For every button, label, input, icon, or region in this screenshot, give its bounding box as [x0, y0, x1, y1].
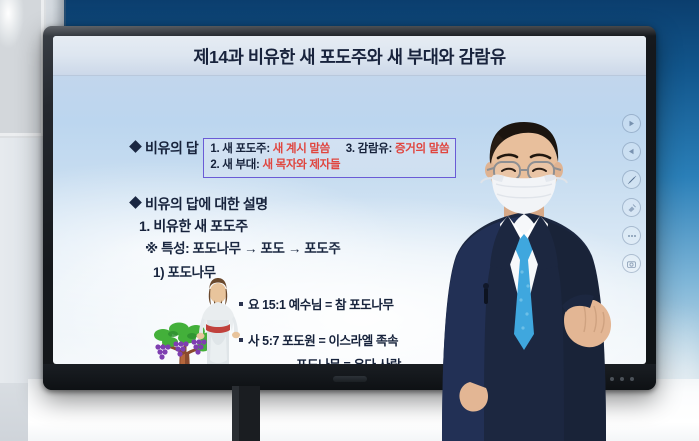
verse-text-3: 포도나무 = 유다 사람 [296, 354, 401, 364]
ir-sensor [333, 376, 367, 382]
answer-box: 1. 새 포도주: 새 계시 말씀 3. 감람유: 증거의 말씀 2. 새 부대… [203, 138, 456, 178]
explain-item-1: 1. 비유한 새 포도주 [139, 216, 248, 236]
eraser-icon[interactable] [622, 198, 641, 217]
stone-texture-panel [0, 0, 46, 138]
bezel-gloss [43, 26, 656, 36]
diamond-bullet-icon-2 [129, 196, 142, 209]
verse-text-1: 요 15:1 예수님 = 참 포도나무 [248, 294, 394, 313]
verse-item-1: 요 15:1 예수님 = 참 포도나무 [239, 294, 394, 313]
verse-item-2: 사 5:7 포도원 = 이스라엘 족속 [239, 330, 398, 349]
pen-icon[interactable] [622, 170, 641, 189]
answer-value-2: 새 목자와 제자들 [262, 159, 340, 171]
trait-line: ※ 특성: 포도나무 → 포도 → 포도주 [145, 237, 340, 257]
verse-text-2: 사 5:7 포도원 = 이스라엘 족속 [248, 330, 398, 349]
diamond-bullet-icon [129, 140, 142, 153]
bezel-button[interactable] [620, 377, 624, 381]
verse-item-3: 포도나무 = 유다 사람 [296, 354, 401, 364]
slide-title: 제14과 비유한 새 포도주와 새 부대와 감람유 [53, 44, 646, 69]
play-icon[interactable] [622, 114, 641, 133]
answer-label-3: 3. 감람유: [346, 143, 392, 155]
answer-heading: 비유의 답 [145, 138, 198, 158]
answer-line-1: 1. 새 포도주: 새 계시 말씀 3. 감람유: 증거의 말씀 [210, 141, 449, 157]
explain-heading: 비유의 답에 대한 설명 [145, 194, 268, 214]
bezel-button[interactable] [630, 377, 634, 381]
screen-toolbar[interactable] [622, 114, 641, 273]
display-stand [228, 386, 264, 441]
answer-value-1: 새 계시 말씀 [273, 143, 330, 155]
jesus-figure-illustration [193, 276, 243, 364]
answer-label-1: 1. 새 포도주: [210, 143, 269, 155]
answer-line-2: 2. 새 부대: 새 목자와 제자들 [210, 157, 449, 173]
capture-icon[interactable] [622, 254, 641, 273]
answer-section: 비유의 답 1. 새 포도주: 새 계시 말씀 3. 감람유: 증거의 말씀 2… [131, 138, 456, 178]
presenter [434, 120, 614, 441]
screenshot-root: 제14과 비유한 새 포도주와 새 부대와 감람유 비유의 답 1. 새 포도주… [0, 0, 699, 441]
explain-section: 비유의 답에 대한 설명 [131, 194, 268, 214]
back-icon[interactable] [622, 142, 641, 161]
answer-label-2: 2. 새 부대: [210, 159, 259, 171]
more-icon[interactable] [622, 226, 641, 245]
